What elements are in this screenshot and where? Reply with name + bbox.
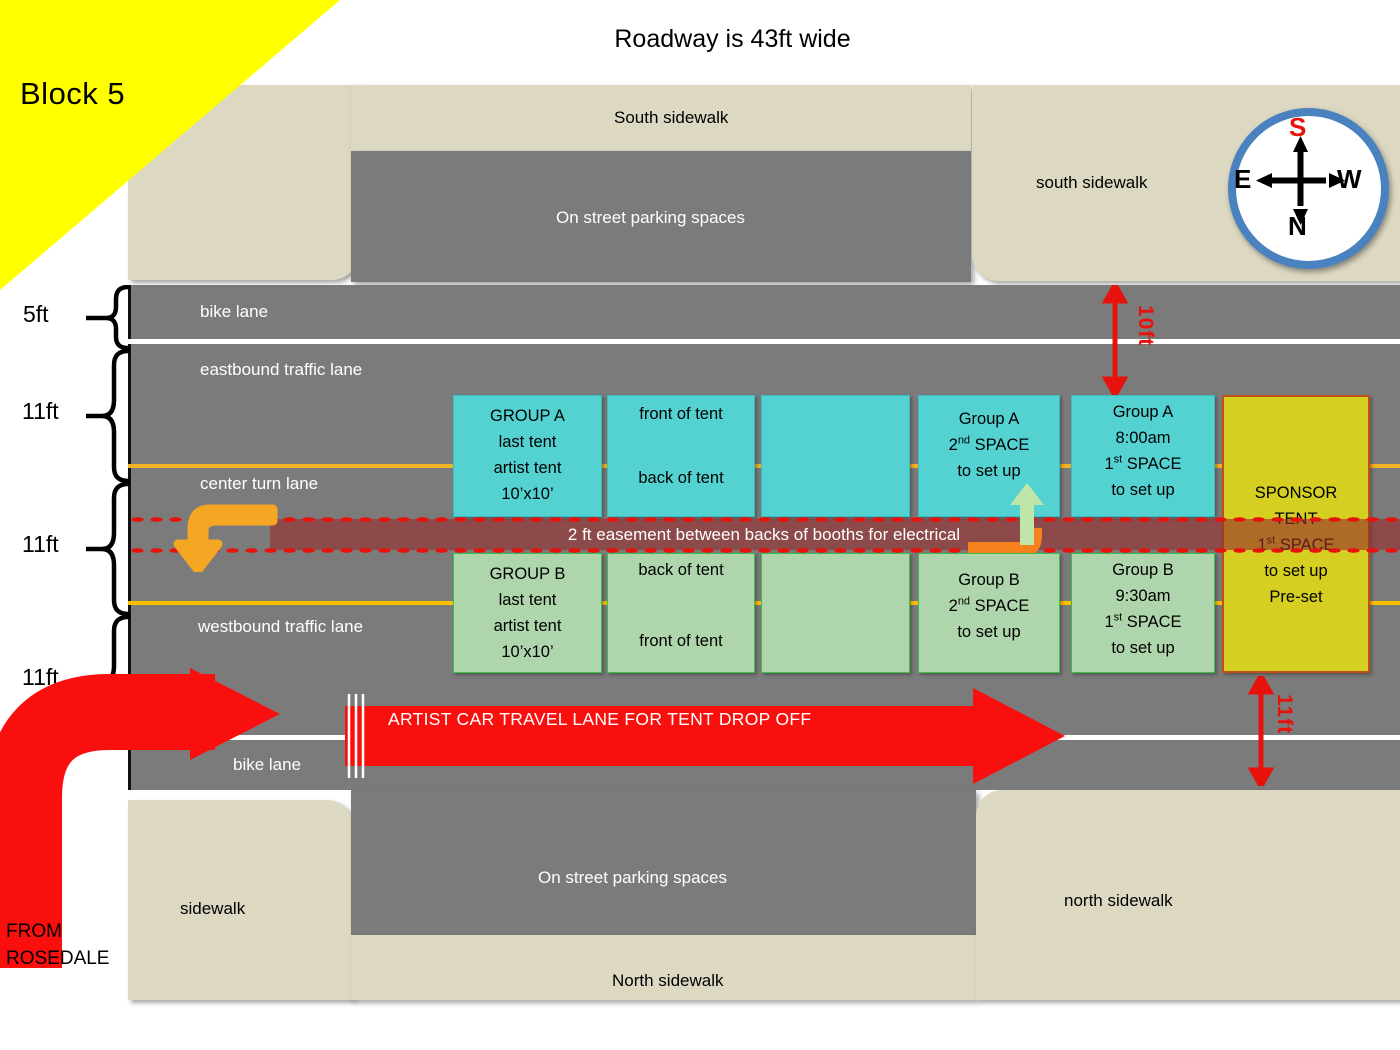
parking-strip-bottom [351,790,976,935]
booth-group-b-2[interactable]: back of tent front of tent [607,553,755,673]
from-rosedale-label: FROM ROSEDALE [6,919,109,973]
artist-car-travel-arrow [345,688,1065,784]
booth-line: Group A [919,406,1059,432]
booth-group-a-2[interactable]: front of tent back of tent [607,395,755,517]
booth-line: to set up [1072,635,1214,661]
arrow-tail-ticks [345,694,367,778]
booth-line: last tent [454,587,601,613]
lane-label-bike-north: bike lane [200,302,268,322]
booth-line: to set up [1224,558,1368,584]
booth-line: SPONSOR [1224,480,1368,506]
booth-group-b-3[interactable] [761,553,910,673]
booth-line: artist tent [454,613,601,639]
booth-line: last tent [454,429,601,455]
compass-label-bottom: N [1288,211,1307,242]
booth-line: Group A [1072,399,1214,425]
dimension-label-10ft: 10ft [1133,305,1157,346]
green-up-arrow-icon [1010,483,1044,545]
dimension-eastbound: 11ft [22,398,59,425]
from-rosedale-line1: FROM [6,919,109,946]
booth-line: GROUP A [454,403,601,429]
from-rosedale-line2: ROSEDALE [6,946,109,973]
booth-group-b-5[interactable]: Group B 9:30am 1st SPACE to set up [1071,553,1215,673]
dimension-bike-lane: 5ft [23,301,49,328]
booth-line: 8:00am [1072,425,1214,451]
booth-line-front: front of tent [608,401,754,427]
booth-line: 10’x10’ [454,481,601,507]
south-sidewalk-right-label: south sidewalk [1036,173,1148,193]
booth-line: 2nd SPACE [919,432,1059,458]
booth-line: artist tent [454,455,601,481]
booth-group-b-4[interactable]: Group B 2nd SPACE to set up [918,553,1060,673]
lane-label-eastbound: eastbound traffic lane [200,360,362,380]
booth-line-front: front of tent [608,628,754,654]
dimension-label-11ft: 11ft [1272,694,1296,734]
booth-group-b-1[interactable]: GROUP B last tent artist tent 10’x10’ [453,553,602,673]
artist-car-travel-label: ARTIST CAR TRAVEL LANE FOR TENT DROP OFF [388,709,811,730]
booth-line: Pre-set [1224,584,1368,610]
compass-rose: S E W N [1228,108,1389,269]
booth-line-back: back of tent [608,465,754,491]
orange-turn-arrow-left-icon [170,497,280,572]
dimension-arrow-10ft [1100,285,1130,395]
compass-label-left: E [1234,164,1251,195]
block-label: Block 5 [20,76,125,112]
easement-label: 2 ft easement between backs of booths fo… [128,519,1400,550]
compass-label-right: W [1337,164,1362,195]
booth-group-a-3[interactable] [761,395,910,517]
booth-line: 9:30am [1072,583,1214,609]
booth-line: 1st SPACE [1072,451,1214,477]
booth-line-back: back of tent [608,557,754,583]
sidewalk-left-label: sidewalk [180,899,245,919]
booth-line: GROUP B [454,561,601,587]
dimension-center-turn: 11ft [22,531,59,558]
booth-line: to set up [1072,477,1214,503]
parking-bottom-label: On street parking spaces [538,868,727,888]
north-sidewalk-right-block [976,790,1400,1000]
booth-line: 10’x10’ [454,639,601,665]
booth-group-a-5[interactable]: Group A 8:00am 1st SPACE to set up [1071,395,1215,517]
booth-line: Group B [1072,557,1214,583]
booth-line: to set up [919,619,1059,645]
north-sidewalk-label: North sidewalk [612,971,724,991]
booth-line: 1st SPACE [1072,609,1214,635]
booth-line: 2nd SPACE [919,593,1059,619]
north-sidewalk-right-label: north sidewalk [1064,891,1173,911]
compass-label-top: S [1289,112,1306,143]
lane-label-center-turn: center turn lane [200,474,318,494]
south-sidewalk-label: South sidewalk [614,108,728,128]
booth-group-a-1[interactable]: GROUP A last tent artist tent 10’x10’ [453,395,602,517]
parking-top-label: On street parking spaces [556,208,745,228]
booth-line: Group B [919,567,1059,593]
lane-label-westbound: westbound traffic lane [198,617,363,637]
stripe-bike-north [128,339,1400,344]
booth-line: to set up [919,458,1059,484]
